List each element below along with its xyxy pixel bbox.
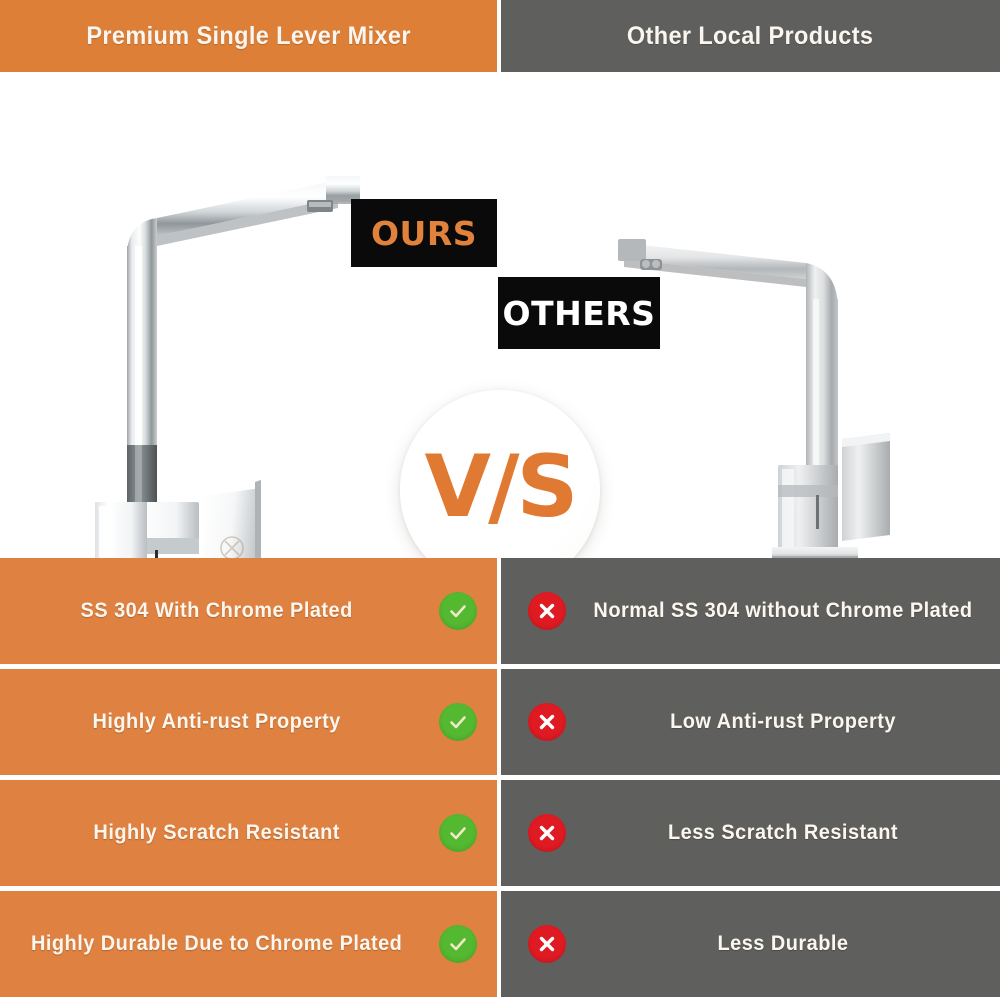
product-photo-stage: V/S OURS OTHERS xyxy=(0,72,1000,558)
check-icon xyxy=(439,814,477,852)
row-cell-others: Less Durable xyxy=(501,891,1000,997)
table-row: Highly Durable Due to Chrome Plated Less… xyxy=(0,891,1000,997)
feature-label-ours: Highly Scratch Resistant xyxy=(11,819,428,847)
cross-icon xyxy=(528,592,566,630)
header-cell-others: Other Local Products xyxy=(501,0,1000,72)
row-cell-ours: SS 304 With Chrome Plated xyxy=(0,558,497,664)
cross-icon xyxy=(528,925,566,963)
header-title-ours: Premium Single Lever Mixer xyxy=(86,22,411,51)
header-title-others: Other Local Products xyxy=(627,22,873,51)
header-cell-ours: Premium Single Lever Mixer xyxy=(0,0,497,72)
row-cell-ours: Highly Anti-rust Property xyxy=(0,669,497,775)
cross-icon xyxy=(528,703,566,741)
table-row: SS 304 With Chrome Plated Normal SS 304 … xyxy=(0,558,1000,664)
label-chip-ours-text: OURS xyxy=(371,214,477,253)
feature-label-others: Less Durable xyxy=(577,930,989,958)
feature-label-ours: Highly Anti-rust Property xyxy=(11,708,428,736)
label-chip-ours: OURS xyxy=(351,199,497,267)
label-chip-others: OTHERS xyxy=(498,277,660,349)
row-cell-others: Low Anti-rust Property xyxy=(501,669,1000,775)
feature-label-ours: SS 304 With Chrome Plated xyxy=(11,597,428,625)
feature-label-ours: Highly Durable Due to Chrome Plated xyxy=(11,930,428,958)
check-icon xyxy=(439,592,477,630)
comparison-table: SS 304 With Chrome Plated Normal SS 304 … xyxy=(0,558,1000,1000)
row-cell-others: Normal SS 304 without Chrome Plated xyxy=(501,558,1000,664)
comparison-header: Premium Single Lever Mixer Other Local P… xyxy=(0,0,1000,72)
check-icon xyxy=(439,703,477,741)
product-image-others xyxy=(610,217,910,558)
feature-label-others: Normal SS 304 without Chrome Plated xyxy=(577,597,989,625)
row-cell-ours: Highly Scratch Resistant xyxy=(0,780,497,886)
table-row: Highly Scratch Resistant Less Scratch Re… xyxy=(0,780,1000,886)
versus-badge: V/S xyxy=(400,390,600,558)
row-cell-ours: Highly Durable Due to Chrome Plated xyxy=(0,891,497,997)
feature-label-others: Less Scratch Resistant xyxy=(577,819,989,847)
versus-label: V/S xyxy=(425,444,576,530)
table-row: Highly Anti-rust Property Low Anti-rust … xyxy=(0,669,1000,775)
row-cell-others: Less Scratch Resistant xyxy=(501,780,1000,886)
product-comparison-infographic: Premium Single Lever Mixer Other Local P… xyxy=(0,0,1000,1000)
check-icon xyxy=(439,925,477,963)
feature-label-others: Low Anti-rust Property xyxy=(577,708,989,736)
product-image-ours xyxy=(95,150,395,558)
cross-icon xyxy=(528,814,566,852)
label-chip-others-text: OTHERS xyxy=(503,294,656,333)
